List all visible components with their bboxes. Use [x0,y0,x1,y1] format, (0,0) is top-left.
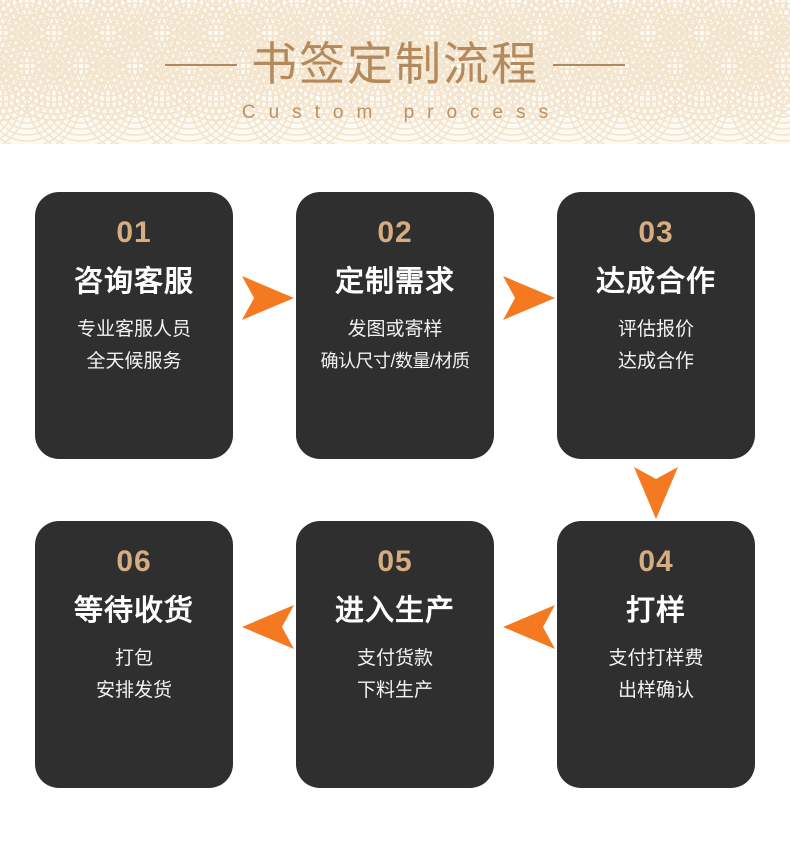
process-step-04: 04 打样 支付打样费 出样确认 [557,521,755,788]
step-number: 01 [116,216,151,250]
step-details: 支付货款 下料生产 [357,646,433,703]
custom-process-infographic: 书签定制流程 Custom process 01 咨询客服 专业客服人员 全天候… [0,0,790,846]
step-detail-line: 发图或寄样 [347,317,442,342]
step-number: 03 [638,216,673,250]
process-step-06: 06 等待收货 打包 安排发货 [35,521,233,788]
step-title: 定制需求 [335,264,455,300]
step-detail-line: 评估报价 [618,317,694,342]
arrow-left-icon [240,601,296,653]
step-detail-line: 出样确认 [618,678,694,703]
arrow-right-icon [240,272,296,324]
step-details: 支付打样费 出样确认 [608,646,703,703]
step-number: 04 [638,545,673,579]
process-step-05: 05 进入生产 支付货款 下料生产 [296,521,494,788]
process-step-01: 01 咨询客服 专业客服人员 全天候服务 [35,192,233,459]
step-detail-line: 支付打样费 [608,646,703,671]
step-detail-line: 全天候服务 [86,349,181,374]
step-details: 发图或寄样 确认尺寸/数量/材质 [320,317,469,374]
step-title: 进入生产 [335,593,455,629]
arrow-down-icon [630,465,682,521]
process-step-02: 02 定制需求 发图或寄样 确认尺寸/数量/材质 [296,192,494,459]
process-step-03: 03 达成合作 评估报价 达成合作 [557,192,755,459]
arrow-left-icon [501,601,557,653]
arrow-right-icon [501,272,557,324]
step-detail-line: 专业客服人员 [77,317,191,342]
step-number: 05 [377,545,412,579]
step-details: 评估报价 达成合作 [618,317,694,374]
step-number: 02 [377,216,412,250]
step-detail-line: 支付货款 [357,646,433,671]
step-detail-line: 下料生产 [357,678,433,703]
process-flow: 01 咨询客服 专业客服人员 全天候服务 02 定制需求 发图或寄样 确认尺寸/… [0,0,790,846]
step-title: 咨询客服 [74,264,194,300]
step-detail-line: 确认尺寸/数量/材质 [320,349,469,374]
step-number: 06 [116,545,151,579]
step-title: 打样 [626,593,686,629]
step-details: 专业客服人员 全天候服务 [77,317,191,374]
step-detail-line: 达成合作 [618,349,694,374]
step-details: 打包 安排发货 [96,646,172,703]
step-detail-line: 安排发货 [96,678,172,703]
step-detail-line: 打包 [115,646,153,671]
step-title: 等待收货 [74,593,194,629]
step-title: 达成合作 [596,264,716,300]
